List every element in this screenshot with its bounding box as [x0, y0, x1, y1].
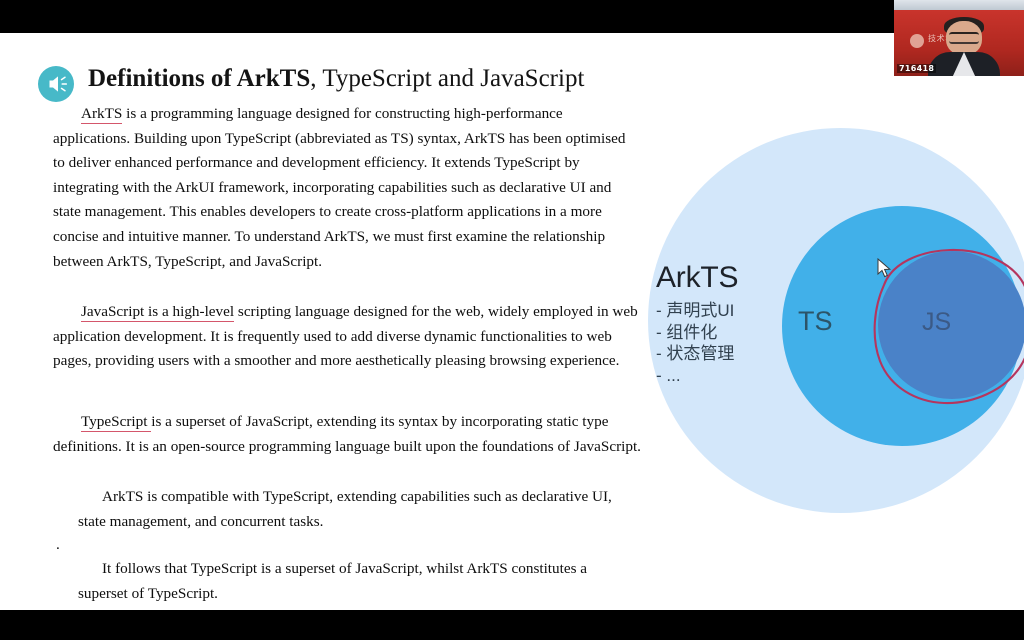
highlight-arkts: ArkTS [81, 105, 122, 124]
paragraph-arkts-compatibility: ArkTS is compatible with TypeScript, ext… [78, 485, 640, 534]
letterbox-top-bar [0, 0, 1024, 33]
webcam-presenter-glasses-icon [949, 32, 979, 44]
venn-label-arkts: ArkTS [656, 261, 738, 295]
paragraph-stray-period: . [56, 533, 618, 558]
webcam-overlay[interactable]: 技术学院 716418 [894, 0, 1024, 76]
page-title-bold: Definitions of ArkTS [88, 65, 310, 92]
venn-label-javascript: JS [922, 308, 951, 337]
screen: ArkTS - 声明式UI - 组件化 - 状态管理 - ... TS JS [0, 0, 1024, 640]
venn-arkts-feature-list: - 声明式UI - 组件化 - 状态管理 - ... [656, 300, 734, 386]
slide-canvas: ArkTS - 声明式UI - 组件化 - 状态管理 - ... TS JS [0, 33, 1024, 610]
paragraph-superset-conclusion: It follows that TypeScript is a superset… [78, 557, 640, 606]
letterbox-bottom-bar [0, 610, 1024, 640]
paragraph-arkts-definition: ArkTS is a programming language designed… [53, 102, 641, 274]
venn-label-typescript: TS [798, 306, 833, 337]
paragraph-typescript-definition: TypeScript is a superset of JavaScript, … [53, 410, 641, 459]
mouse-cursor-icon [877, 258, 892, 279]
page-title: Definitions of ArkTS, TypeScript and Jav… [88, 65, 584, 93]
webcam-banner-logo-icon [910, 34, 924, 48]
highlight-typescript: TypeScript [81, 413, 151, 432]
paragraph-arkts-definition-text: is a programming language designed for c… [53, 105, 625, 270]
slide-title-row: Definitions of ArkTS, TypeScript and Jav… [38, 65, 658, 105]
page-title-rest: , TypeScript and JavaScript [310, 65, 584, 92]
paragraph-javascript-definition: JavaScript is a high-level scripting lan… [53, 300, 641, 374]
venn-diagram: ArkTS - 声明式UI - 组件化 - 状态管理 - ... TS JS [630, 118, 1024, 518]
speaker-icon [38, 66, 74, 102]
webcam-participant-id: 716418 [897, 64, 936, 73]
highlight-javascript: JavaScript is a high-level [81, 303, 234, 322]
